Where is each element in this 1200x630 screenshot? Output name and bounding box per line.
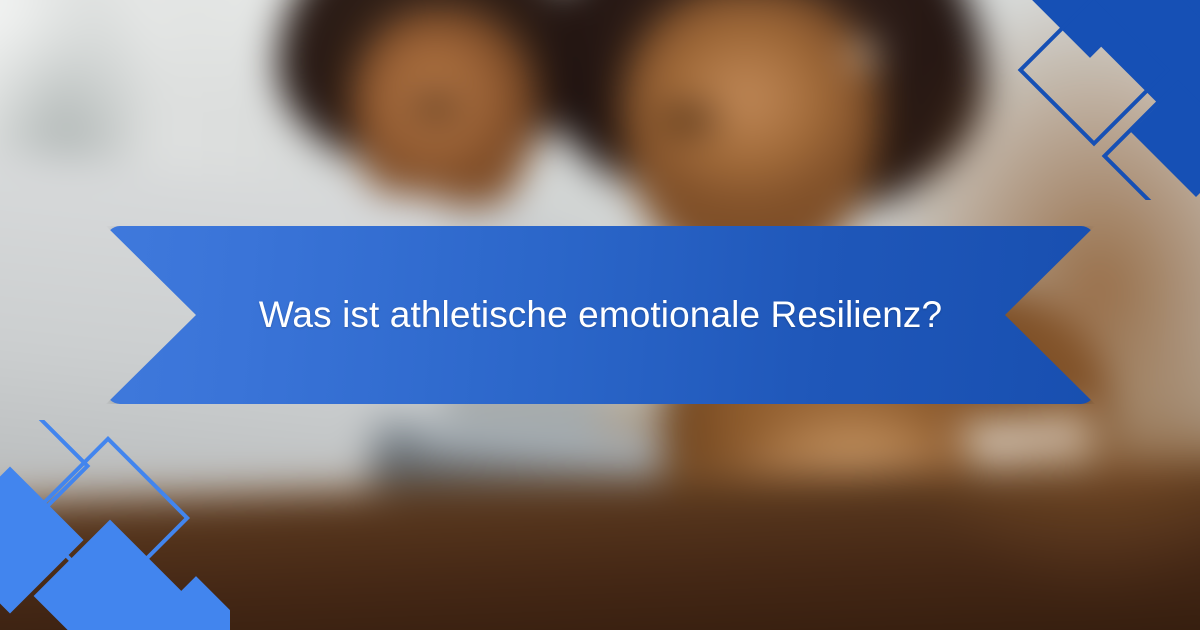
page-title: Was ist athletische emotionale Resilienz… (149, 293, 1052, 337)
decoration-top-right (1000, 0, 1200, 200)
share-card-canvas: Was ist athletische emotionale Resilienz… (0, 0, 1200, 630)
title-ribbon-banner: Was ist athletische emotionale Resilienz… (106, 226, 1095, 404)
rotated-square-filled-group (0, 466, 230, 630)
decoration-bottom-left (0, 420, 230, 630)
